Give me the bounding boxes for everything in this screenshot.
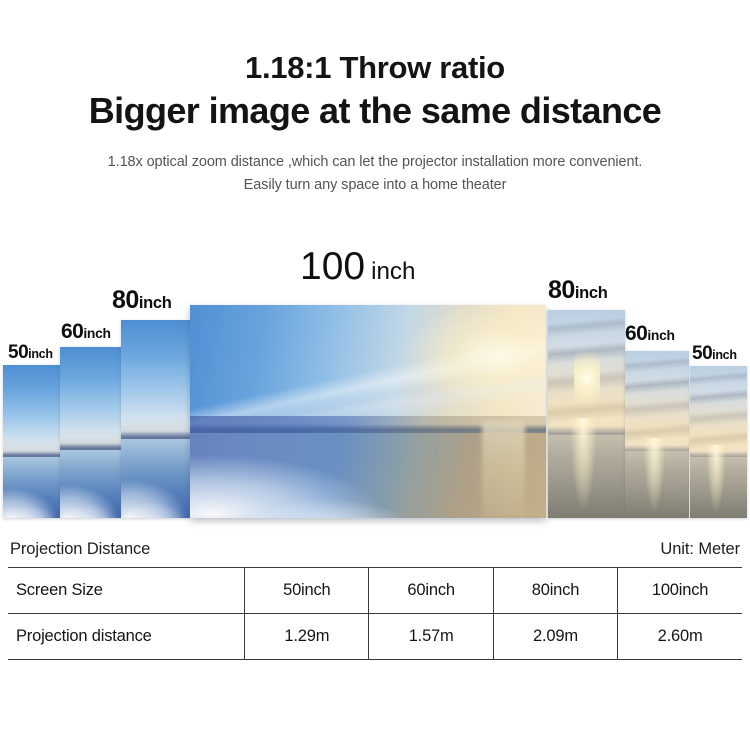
screen-label-number: 60 bbox=[61, 320, 83, 343]
scene-ice bbox=[548, 418, 625, 518]
cell-screen-size-100: 100inch bbox=[618, 568, 742, 614]
projection-distance-section: Projection Distance Unit: Meter Screen S… bbox=[8, 540, 742, 660]
scene-art-left-60 bbox=[60, 347, 121, 518]
screen-label-left-50: 50inch bbox=[8, 343, 53, 362]
scene-art-right-80 bbox=[548, 310, 625, 518]
page-subtitle: 1.18x optical zoom distance ,which can l… bbox=[0, 151, 750, 196]
screen-label-center-100: 100inch bbox=[300, 247, 415, 286]
screen-label-unit: inch bbox=[575, 284, 608, 302]
screen-label-number: 80 bbox=[112, 286, 139, 314]
scene-art-right-60 bbox=[625, 351, 689, 518]
screen-label-unit: inch bbox=[83, 325, 110, 341]
scene-ice bbox=[60, 436, 121, 518]
scene-ice bbox=[3, 445, 60, 518]
cell-screen-size-50: 50inch bbox=[245, 568, 369, 614]
page-title-secondary: Bigger image at the same distance bbox=[0, 92, 750, 130]
screen-panel-right-80 bbox=[548, 310, 625, 518]
screen-label-number: 80 bbox=[548, 276, 575, 304]
scene-ice bbox=[121, 423, 190, 518]
cell-screen-size-80: 80inch bbox=[493, 568, 617, 614]
screen-label-unit: inch bbox=[712, 348, 737, 362]
scene-sun-glow bbox=[574, 343, 600, 414]
scene-art-center-100 bbox=[190, 305, 546, 518]
subtitle-line-1: 1.18x optical zoom distance ,which can l… bbox=[108, 154, 643, 170]
page-title-primary: 1.18:1 Throw ratio bbox=[0, 52, 750, 85]
table-unit-note: Unit: Meter bbox=[660, 540, 740, 559]
screen-label-right-80: 80inch bbox=[548, 278, 608, 303]
scene-ice bbox=[625, 438, 689, 518]
screen-label-unit: inch bbox=[28, 347, 53, 361]
scene-ice bbox=[690, 445, 747, 518]
screen-label-unit: inch bbox=[371, 258, 415, 285]
screen-panel-left-50 bbox=[3, 365, 60, 518]
screen-label-left-60: 60inch bbox=[61, 321, 111, 342]
screen-label-number: 60 bbox=[625, 322, 647, 345]
subtitle-line-2: Easily turn any space into a home theate… bbox=[0, 174, 750, 196]
screen-label-number: 100 bbox=[300, 245, 365, 288]
cell-distance-50: 1.29m bbox=[245, 614, 369, 660]
cell-distance-60: 1.57m bbox=[369, 614, 493, 660]
screen-label-unit: inch bbox=[647, 327, 674, 343]
table-caption-row: Projection Distance Unit: Meter bbox=[8, 540, 742, 567]
screen-panel-right-50 bbox=[690, 366, 747, 518]
screen-label-right-50: 50inch bbox=[692, 344, 737, 363]
screen-label-number: 50 bbox=[8, 342, 28, 363]
cell-distance-100: 2.60m bbox=[618, 614, 742, 660]
row-header-projection-distance: Projection distance bbox=[8, 614, 245, 660]
screen-panel-left-80 bbox=[121, 320, 190, 518]
table-row-screen-size: Screen Size 50inch 60inch 80inch 100inch bbox=[8, 568, 742, 614]
cell-screen-size-60: 60inch bbox=[369, 568, 493, 614]
table-row-projection-distance: Projection distance 1.29m 1.57m 2.09m 2.… bbox=[8, 614, 742, 660]
screen-label-unit: inch bbox=[139, 294, 172, 312]
screen-label-left-80: 80inch bbox=[112, 288, 172, 313]
scene-art-left-50 bbox=[3, 365, 60, 518]
screen-panel-left-60 bbox=[60, 347, 121, 518]
screen-panel-center-100 bbox=[190, 305, 546, 518]
scene-art-left-80 bbox=[121, 320, 190, 518]
scene-ice bbox=[190, 416, 546, 518]
screen-label-number: 50 bbox=[692, 343, 712, 364]
scene-art-right-50 bbox=[690, 366, 747, 518]
row-header-screen-size: Screen Size bbox=[8, 568, 245, 614]
header-block: 1.18:1 Throw ratio Bigger image at the s… bbox=[0, 0, 750, 196]
screen-size-illustration: 50inch 60inch 80inch 100inch 80inch 60in… bbox=[0, 238, 750, 528]
projection-distance-table: Screen Size 50inch 60inch 80inch 100inch… bbox=[8, 567, 742, 660]
table-caption-title: Projection Distance bbox=[10, 540, 150, 559]
screen-label-right-60: 60inch bbox=[625, 323, 675, 344]
screen-panel-right-60 bbox=[625, 351, 689, 518]
cell-distance-80: 2.09m bbox=[493, 614, 617, 660]
